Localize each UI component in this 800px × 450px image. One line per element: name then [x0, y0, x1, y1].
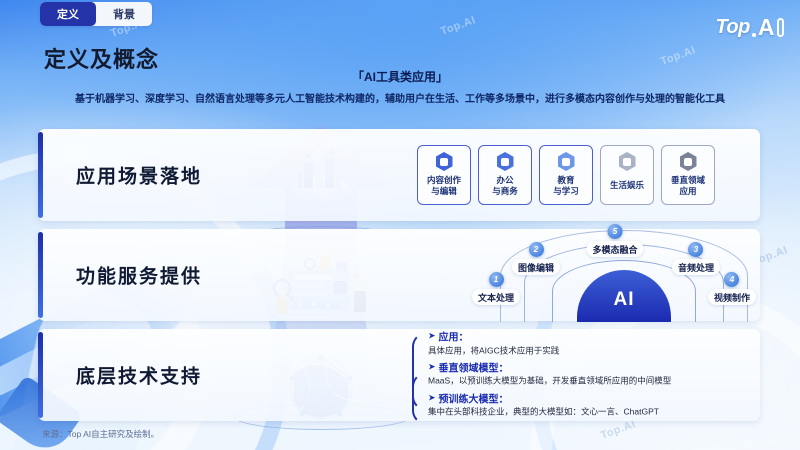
bullet-item-vertical-model: ➤ 垂直领域模型： MaaS，以预训练大模型为基础，开发垂直领域所应用的中间模型: [428, 360, 738, 388]
tab-background[interactable]: 背景: [96, 2, 152, 26]
book-icon: [558, 152, 575, 171]
row-label-services: 功能服务提供: [76, 262, 202, 289]
ai-center-label: AI: [614, 289, 635, 311]
mail-icon: [497, 152, 514, 171]
watermark: Top.AI: [439, 14, 477, 38]
brace-decoration-bottom: [412, 373, 426, 425]
watermark: Top.AI: [599, 418, 637, 442]
app-card-label: 垂直领域 应用: [671, 175, 705, 197]
app-card-office-business[interactable]: 办公 与商务: [478, 145, 532, 205]
chat-icon: [680, 152, 697, 171]
arc-node-label: 文本处理: [472, 289, 520, 305]
app-card-label: 生活娱乐: [610, 180, 644, 191]
chevron-right-icon: ➤: [428, 392, 436, 403]
arc-node-image-editing[interactable]: 2 图像编辑: [512, 242, 560, 275]
chevron-right-icon: ➤: [428, 331, 436, 342]
subtitle: 「AI工具类应用」: [0, 68, 800, 85]
tab-bar: 定义 背景: [40, 2, 152, 26]
bullet-item-application: ➤ 应用： 具体应用，将AIGC技术应用于实践: [428, 329, 738, 357]
bullet-heading-text: 垂直领域模型：: [439, 360, 509, 375]
arc-node-text-processing[interactable]: 1 文本处理: [472, 272, 520, 305]
row-panel-application: 应用场景落地 内容创作 与编辑 办公 与商务 教育 与学习 生活娱乐 垂直领域 …: [38, 129, 760, 221]
arc-node-badge: 3: [688, 242, 703, 257]
logo-ai-text: A: [758, 14, 774, 41]
logo-bar-icon: [777, 18, 784, 37]
row-panel-technology: 底层技术支持 ➤ 应用： 具体应用，将AIGC技术应用于实践 ➤ 垂直领域模型：…: [38, 329, 760, 421]
brand-logo: Top A: [715, 14, 784, 41]
arc-node-badge: 1: [489, 272, 504, 287]
logo-top-text: Top: [715, 16, 749, 39]
app-card-label: 教育 与学习: [553, 175, 579, 197]
arc-node-video-production[interactable]: 4 视频制作: [708, 272, 756, 305]
arc-node-label: 视频制作: [708, 289, 756, 305]
arc-node-badge: 5: [607, 224, 622, 239]
logo-dot-icon: [752, 33, 756, 37]
app-card-vertical-domain[interactable]: 垂直领域 应用: [661, 145, 715, 205]
watermark: Top.AI: [659, 44, 697, 68]
arc-node-badge: 2: [529, 242, 544, 257]
smile-icon: [619, 152, 636, 171]
app-card-label: 内容创作 与编辑: [427, 175, 461, 197]
app-card-life-entertainment[interactable]: 生活娱乐: [600, 145, 654, 205]
chevron-right-icon: ➤: [428, 362, 436, 373]
ai-capability-arc-diagram: AI 5 多模态融合 2 图像编辑 3 音频处理 1 文本处理 4 视频制作: [480, 226, 750, 322]
bullet-heading-text: 应用：: [439, 329, 469, 344]
tab-definition[interactable]: 定义: [40, 2, 96, 26]
bullet-description: MaaS，以预训练大模型为基础，开发垂直领域所应用的中间模型: [428, 376, 738, 387]
bullet-description: 具体应用，将AIGC技术应用于实践: [428, 345, 738, 356]
row-label-application: 应用场景落地: [76, 162, 202, 189]
document-edit-icon: [436, 152, 453, 171]
bullet-heading-text: 预训练大模型：: [439, 390, 509, 405]
bullet-item-pretrained-model: ➤ 预训练大模型： 集中在头部科技企业，典型的大模型如：文心一言、ChatGPT: [428, 390, 738, 418]
arc-node-audio-processing[interactable]: 3 音频处理: [672, 242, 720, 275]
subtitle-description: 基于机器学习、深度学习、自然语言处理等多元人工智能技术构建的，辅助用户在生活、工…: [0, 90, 800, 105]
arc-node-label: 多模态融合: [586, 241, 643, 257]
bullet-heading: ➤ 应用：: [428, 329, 738, 344]
app-card-education-learning[interactable]: 教育 与学习: [539, 145, 593, 205]
arc-node-multimodal[interactable]: 5 多模态融合: [586, 224, 643, 257]
app-card-label: 办公 与商务: [492, 175, 518, 197]
bullet-description: 集中在头部科技企业，典型的大模型如：文心一言、ChatGPT: [428, 407, 738, 418]
app-card-content-creation[interactable]: 内容创作 与编辑: [417, 145, 471, 205]
bullet-heading: ➤ 预训练大模型：: [428, 390, 738, 405]
bullet-heading: ➤ 垂直领域模型：: [428, 360, 738, 375]
application-card-list: 内容创作 与编辑 办公 与商务 教育 与学习 生活娱乐 垂直领域 应用: [417, 145, 715, 205]
technology-bullet-list: ➤ 应用： 具体应用，将AIGC技术应用于实践 ➤ 垂直领域模型： MaaS，以…: [428, 329, 738, 422]
source-footnote: 来源：Top AI自主研究及绘制。: [42, 428, 159, 440]
row-label-technology: 底层技术支持: [76, 362, 202, 389]
arc-node-badge: 4: [724, 272, 739, 287]
